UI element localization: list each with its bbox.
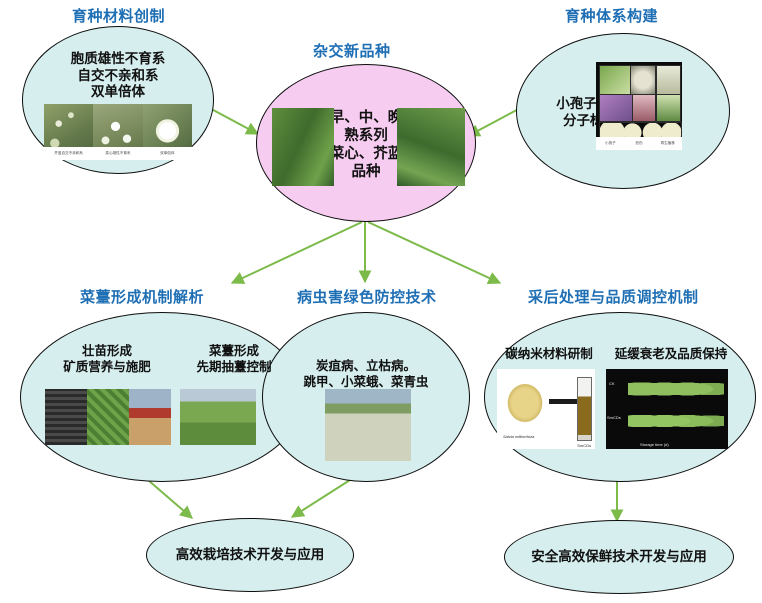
node-stem-mechanism-text-right: 菜薹形成 先期抽薹控制 — [178, 344, 290, 375]
fig-caption: 愈伤 — [625, 141, 654, 146]
node-hybrid-variety-text: 早、中、晚 熟系列 菜心、芥蓝 品种 — [330, 109, 403, 182]
figure-postharvest-species: Salvia miltiorrhiza — [503, 434, 534, 439]
node-postharvest-text-right: 延缓衰老及品质保持 — [608, 347, 734, 363]
node-stem-mechanism-text-left: 壮苗形成 矿质营养与施肥 — [42, 344, 172, 375]
node-cultivation-outcome-text: 高效栽培技术开发与应用 — [176, 547, 325, 564]
figure-postharvest-control-label: CK — [609, 381, 615, 386]
fig-caption: 菜心雄性不育系 — [93, 151, 142, 156]
fig-caption: 小孢子 — [596, 141, 625, 146]
figure-postharvest-left: Salvia miltiorrhiza SmCDs — [497, 369, 595, 449]
figure-breeding-system-captions: 小孢子 愈伤 再生植株 — [596, 137, 682, 150]
arrow-hybrid-to-postharvest — [368, 222, 500, 283]
figure-postharvest-product: SmCDs — [577, 443, 591, 448]
figure-breeding-material-captions: 芥蓝自交不亲和系 菜心雄性不育系 双单倍体 — [44, 147, 192, 160]
figure-hybrid-right — [397, 108, 465, 186]
caption-stem-mechanism: 菜薹形成机制解析 — [80, 286, 204, 307]
caption-hybrid-variety: 杂交新品种 — [313, 40, 391, 61]
figure-breeding-material: 芥蓝自交不亲和系 菜心雄性不育系 双单倍体 — [44, 104, 192, 160]
caption-postharvest: 采后处理与品质调控机制 — [528, 286, 699, 307]
figure-pest-control — [325, 389, 411, 461]
arrow-stem-to-cultivation — [148, 480, 192, 518]
caption-breeding-system: 育种体系构建 — [565, 5, 658, 26]
fig-caption: 双单倍体 — [143, 151, 192, 156]
figure-breeding-system: 小孢子 愈伤 再生植株 — [596, 62, 682, 150]
node-preservation-outcome-text: 安全高效保鲜技术开发与应用 — [531, 549, 707, 566]
figure-stem-left — [45, 389, 171, 445]
caption-pest-control: 病虫害绿色防控技术 — [297, 286, 437, 307]
fig-caption: 再生植株 — [653, 141, 682, 146]
node-preservation-outcome[interactable]: 安全高效保鲜技术开发与应用 — [504, 520, 734, 594]
figure-stem-right — [180, 389, 256, 445]
node-postharvest-text-left: 碳纳米材料研制 — [497, 347, 601, 363]
node-pest-control-text: 炭疽病、立枯病。 跳甲、小菜蛾、菜青虫 — [303, 359, 428, 390]
arrow-pest-to-cultivation — [292, 480, 350, 517]
arrow-hybrid-to-stem — [232, 222, 362, 283]
figure-postharvest-axis-label: Storage time (d) — [640, 442, 669, 447]
caption-breeding-material: 育种材料创制 — [72, 5, 165, 26]
diagram-canvas: 育种材料创制 胞质雄性不育系 自交不亲和系 双单倍体 芥蓝自交不亲和系 菜心雄性… — [0, 0, 762, 603]
figure-postharvest-treatment-label: SmCDs — [607, 415, 621, 420]
node-cultivation-outcome[interactable]: 高效栽培技术开发与应用 — [146, 518, 354, 592]
fig-caption: 芥蓝自交不亲和系 — [44, 151, 93, 156]
figure-postharvest-right: CK SmCDs Storage time (d) — [606, 369, 728, 449]
figure-hybrid-left — [272, 108, 334, 186]
node-breeding-material-text: 胞质雄性不育系 自交不亲和系 双单倍体 — [71, 51, 166, 102]
